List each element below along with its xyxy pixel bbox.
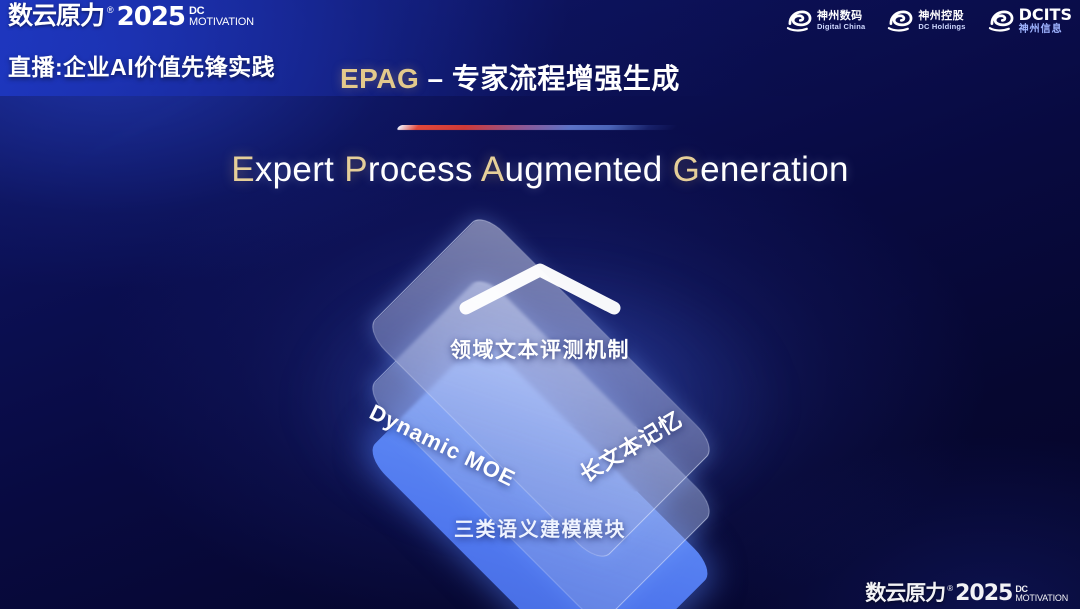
subtitle-word-process: rocess	[368, 150, 473, 189]
title-acronym: EPAG	[340, 63, 419, 94]
layer-stack-diagram: 领域文本评测机制 Dynamic MOE 长文本记忆 三类语义建模模块	[0, 222, 1080, 562]
logo-en-name: 神州信息	[1019, 24, 1072, 35]
subtitle-word-expert: xpert	[255, 150, 334, 189]
logo-cn-name: DCITS	[1019, 6, 1072, 24]
subtitle-initial-e: E	[231, 150, 255, 189]
subtitle-initial-g: G	[673, 150, 701, 189]
brand-logo: 数云原力 ® 2025 DC MOTIVATION	[8, 4, 254, 30]
swoosh-icon	[988, 8, 1014, 34]
watermark-dc-motivation: DC MOTIVATION	[1015, 585, 1068, 603]
swoosh-icon	[887, 8, 913, 34]
logo-dcits: DCITS 神州信息	[988, 6, 1072, 35]
watermark-name-cn: 数云原力	[865, 583, 945, 604]
footer-watermark: 数云原力 ® 2025 DC MOTIVATION	[865, 583, 1068, 605]
logo-cn-name: 神州控股	[918, 10, 965, 22]
watermark-year: 2025	[955, 583, 1012, 605]
swoosh-icon	[786, 8, 812, 34]
brand-name-cn: 数云原力	[8, 4, 104, 29]
watermark-motivation-label: MOTIVATION	[1015, 594, 1068, 603]
title-chinese: 专家流程增强生成	[452, 63, 680, 94]
logo-en-name: DC Holdings	[918, 23, 965, 31]
logo-cn-name: 神州数码	[817, 10, 865, 22]
partner-logo-row: 神州数码 Digital China 神州控股 DC Holdings	[786, 6, 1072, 35]
subtitle-word-augmented: ugmented	[505, 150, 663, 189]
live-stream-label: 直播:企业AI价值先锋实践	[8, 48, 275, 82]
slide-canvas: 数云原力 ® 2025 DC MOTIVATION 直播:企业AI价值先锋实践 …	[0, 0, 1080, 609]
title-separator: –	[419, 63, 452, 94]
accent-divider	[396, 125, 678, 130]
registered-mark: ®	[107, 6, 114, 15]
watermark-registered-mark: ®	[947, 585, 953, 593]
logo-text-dc-holdings: 神州控股 DC Holdings	[918, 10, 965, 31]
brand-dc-motivation: DC MOTIVATION	[189, 6, 254, 28]
page-title: EPAG – 专家流程增强生成	[340, 57, 680, 97]
logo-digital-china: 神州数码 Digital China	[786, 8, 865, 34]
subtitle-initial-p: P	[344, 150, 368, 189]
subtitle-word-generation: eneration	[700, 150, 849, 189]
logo-en-name: Digital China	[817, 23, 865, 31]
subtitle-expansion: Expert Process Augmented Generation	[0, 150, 1080, 190]
logo-text-digital-china: 神州数码 Digital China	[817, 10, 865, 31]
brand-year: 2025	[117, 4, 185, 30]
logo-text-dcits: DCITS 神州信息	[1019, 6, 1072, 35]
logo-dc-holdings: 神州控股 DC Holdings	[887, 8, 965, 34]
subtitle-initial-a: A	[481, 150, 505, 189]
brand-motivation-label: MOTIVATION	[189, 17, 254, 28]
